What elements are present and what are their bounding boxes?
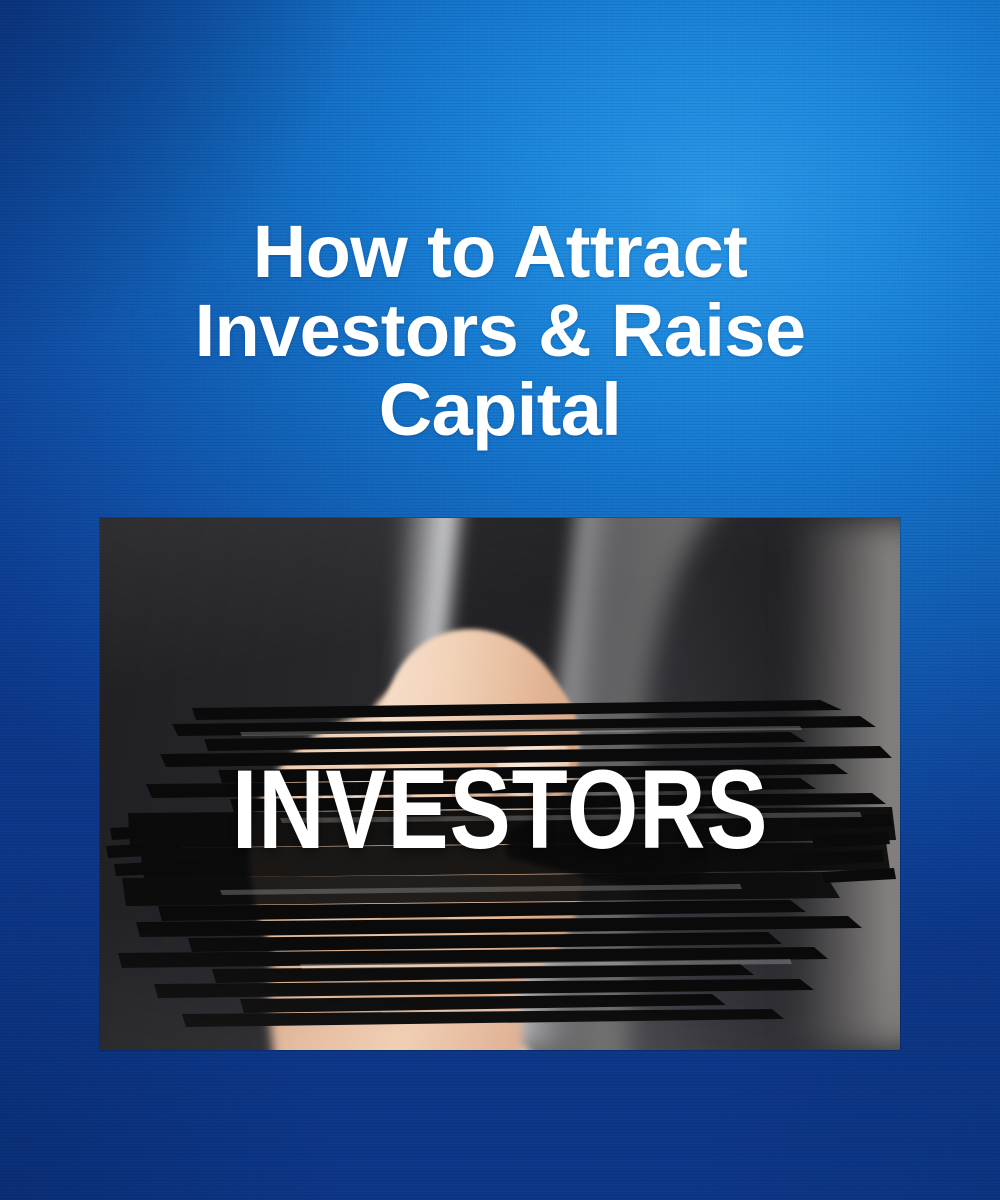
investors-text: INVESTORS — [232, 754, 768, 866]
hero-photo: INVESTORS — [100, 518, 900, 1050]
title-line-1: How to Attract — [0, 212, 1000, 291]
title-line-3: Capital — [0, 370, 1000, 449]
title-line-2: Investors & Raise — [0, 291, 1000, 370]
poster-canvas: How to Attract Investors & Raise Capital — [0, 0, 1000, 1200]
photo-overlay-word: INVESTORS — [100, 754, 900, 866]
poster-title: How to Attract Investors & Raise Capital — [0, 212, 1000, 449]
